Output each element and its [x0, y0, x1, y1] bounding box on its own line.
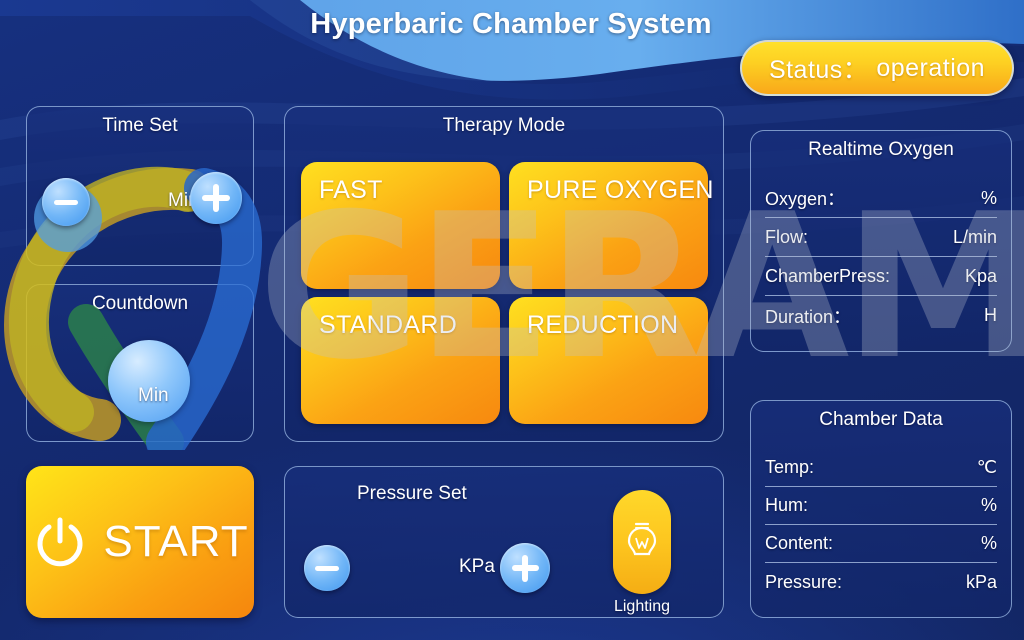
status-label: Status： [769, 50, 868, 86]
minus-icon [315, 566, 339, 571]
table-row: Temp: ℃ [765, 449, 997, 487]
row-value: % [981, 533, 997, 554]
therapy-mode-fast-button[interactable]: FAST [301, 162, 500, 289]
realtime-oxygen-panel: Realtime Oxygen Oxygen： % Flow: L/min Ch… [750, 130, 1012, 352]
therapy-mode-fast-label: FAST [319, 176, 383, 205]
lighting-button[interactable] [613, 490, 671, 594]
time-set-plus-button[interactable] [190, 172, 242, 224]
row-key: Content: [765, 533, 833, 554]
chamber-data-title: Chamber Data [751, 401, 1011, 431]
row-key: Temp: [765, 457, 814, 478]
therapy-mode-pure-oxygen-button[interactable]: PURE OXYGEN [509, 162, 708, 289]
table-row: ChamberPress: Kpa [765, 257, 997, 296]
therapy-mode-standard-button[interactable]: STANDARD [301, 297, 500, 424]
lighting-label: Lighting [593, 598, 691, 616]
row-key: Flow: [765, 227, 808, 248]
row-value: L/min [953, 227, 997, 248]
row-value: % [981, 495, 997, 516]
therapy-mode-pure-oxygen-label: PURE OXYGEN [527, 176, 714, 205]
realtime-oxygen-rows: Oxygen： % Flow: L/min ChamberPress: Kpa … [765, 179, 997, 335]
row-key: Pressure: [765, 572, 842, 593]
status-badge: Status： operation [740, 40, 1014, 96]
status-value: operation [876, 54, 985, 83]
power-icon [31, 513, 89, 571]
therapy-mode-standard-label: STANDARD [319, 311, 457, 340]
row-value: % [981, 188, 997, 209]
row-key: ChamberPress: [765, 266, 890, 287]
table-row: Oxygen： % [765, 179, 997, 218]
lightbulb-icon [625, 518, 659, 566]
table-row: Content: % [765, 525, 997, 563]
row-key: Hum: [765, 495, 808, 516]
countdown-unit: Min [138, 385, 169, 407]
row-value: Kpa [965, 266, 997, 287]
therapy-mode-reduction-label: REDUCTION [527, 311, 678, 340]
countdown-display [108, 340, 190, 422]
realtime-oxygen-title: Realtime Oxygen [751, 131, 1011, 161]
row-key: Oxygen： [765, 185, 845, 211]
table-row: Duration： H [765, 296, 997, 335]
therapy-mode-reduction-button[interactable]: REDUCTION [509, 297, 708, 424]
start-label: START [103, 517, 248, 567]
page-title: Hyperbaric Chamber System [276, 8, 746, 41]
table-row: Hum: % [765, 487, 997, 525]
start-button[interactable]: START [26, 466, 254, 618]
chamber-data-panel: Chamber Data Temp: ℃ Hum: % Content: % P… [750, 400, 1012, 618]
row-value: ℃ [977, 457, 997, 478]
pressure-set-plus-button[interactable] [500, 543, 550, 593]
time-set-title: Time Set [27, 107, 253, 137]
row-value: kPa [966, 572, 997, 593]
table-row: Flow: L/min [765, 218, 997, 257]
minus-icon [54, 200, 78, 205]
pressure-set-unit: KPa [459, 556, 495, 578]
table-row: Pressure: kPa [765, 563, 997, 601]
countdown-title: Countdown [27, 285, 253, 315]
row-key: Duration： [765, 303, 851, 329]
row-value: H [984, 305, 997, 326]
time-set-minus-button[interactable] [42, 178, 90, 226]
chamber-data-rows: Temp: ℃ Hum: % Content: % Pressure: kPa [765, 449, 997, 601]
therapy-mode-title: Therapy Mode [285, 107, 723, 137]
pressure-set-minus-button[interactable] [304, 545, 350, 591]
